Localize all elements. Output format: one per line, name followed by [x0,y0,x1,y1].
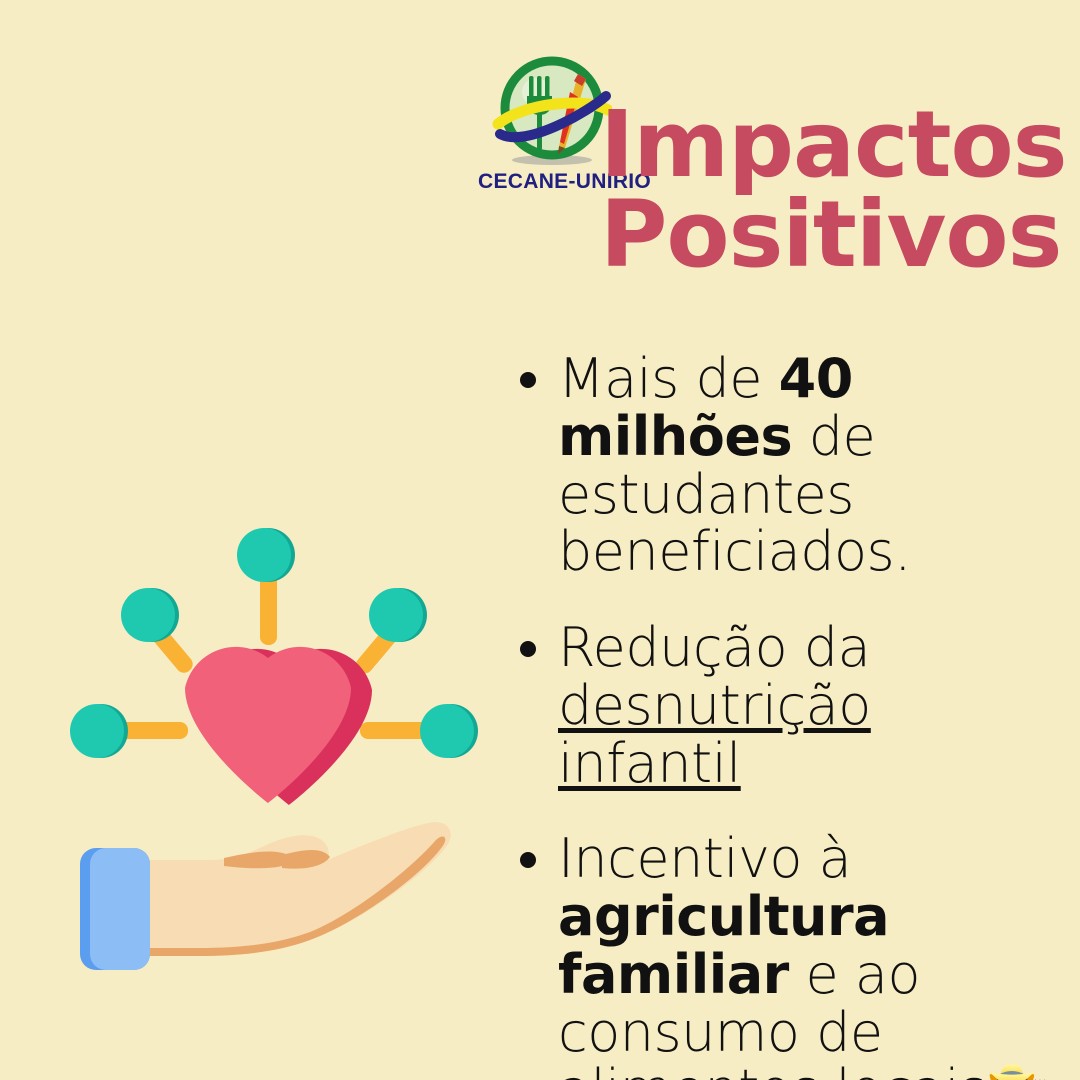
bullet-malnutrition-reduction-part-1: desnutrição infantil [558,674,871,795]
bullet-family-agriculture-part-0: Incentivo à [558,827,851,890]
list-item: Redução da desnutrição infantil [520,619,1065,792]
bullet-malnutrition-reduction-part-0: Redução da [558,616,870,679]
hand-holding-heart-illustration [60,510,490,1010]
title-line-1: Impactos [600,100,1040,190]
cecane-unirio-logo-icon [492,52,612,172]
farmer-emoji-icon: 👩‍🌾 [987,1062,1049,1080]
poster-canvas: CECANE-UNIRIO Impactos Positivos Mais de… [0,0,1080,1080]
bullet-dot-icon [520,641,536,657]
impact-bullet-list: Mais de 40 milhões de estudantes benefic… [520,350,1065,1080]
bullet-students-benefited-part-0: Mais de [558,347,779,410]
list-item: Mais de 40 milhões de estudantes benefic… [520,350,1065,581]
list-item: Incentivo à agricultura familiar e ao co… [520,830,1065,1080]
bullet-malnutrition-reduction: Redução da desnutrição infantil [558,619,1065,792]
title-line-2: Positivos [600,190,1040,280]
page-title: Impactos Positivos [600,100,1040,280]
open-hand-icon [80,822,451,970]
pin-left [70,704,188,758]
bullet-family-agriculture: Incentivo à agricultura familiar e ao co… [558,830,1065,1080]
bullet-students-benefited: Mais de 40 milhões de estudantes benefic… [558,350,1065,581]
pin-upper-left [121,588,196,676]
pin-top [237,528,295,645]
bullet-dot-icon [520,372,536,388]
bullet-dot-icon [520,852,536,868]
pin-right [360,704,478,758]
heart-icon [185,647,372,805]
pin-upper-right [353,588,427,677]
